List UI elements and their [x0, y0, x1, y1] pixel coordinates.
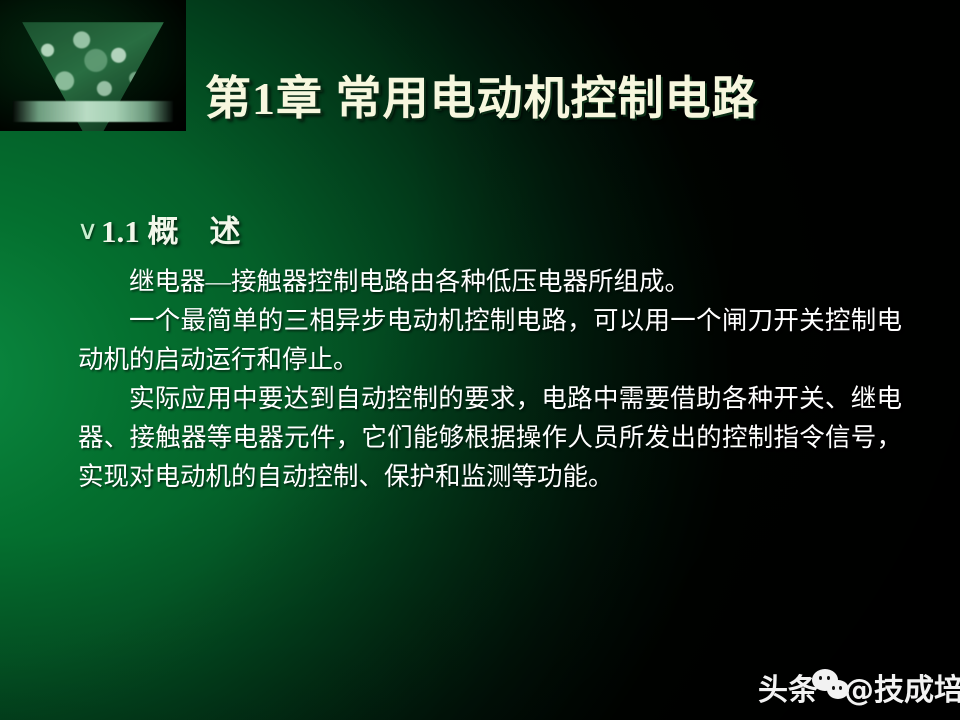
- logo-decoration: [0, 0, 186, 131]
- watermark-platform-label: 头条: [758, 665, 818, 709]
- body-content: 继电器—接触器控制电路由各种低压电器所组成。 一个最简单的三相异步电动机控制电路…: [78, 262, 902, 496]
- watermark: 头条 @技成培训: [758, 664, 960, 710]
- page-title: 第1章 常用电动机控制电路: [205, 62, 960, 128]
- chevron-down-icon: ∨: [77, 218, 99, 244]
- logo-highlight-bar: [13, 101, 173, 122]
- watermark-handle-label: @技成培训: [844, 665, 960, 709]
- paragraph: 实际应用中要达到自动控制的要求，电路中需要借助各种开关、继电器、接触器等电器元件…: [78, 379, 902, 496]
- section-heading-label: 1.1 概 述: [101, 206, 241, 251]
- paragraph: 继电器—接触器控制电路由各种低压电器所组成。: [78, 262, 902, 301]
- section-heading: ∨ 1.1 概 述: [78, 206, 241, 251]
- slide-canvas: 第1章 常用电动机控制电路 ∨ 1.1 概 述 继电器—接触器控制电路由各种低压…: [0, 0, 960, 720]
- paragraph: 一个最简单的三相异步电动机控制电路，可以用一个闸刀开关控制电动机的启动运行和停止…: [78, 301, 902, 379]
